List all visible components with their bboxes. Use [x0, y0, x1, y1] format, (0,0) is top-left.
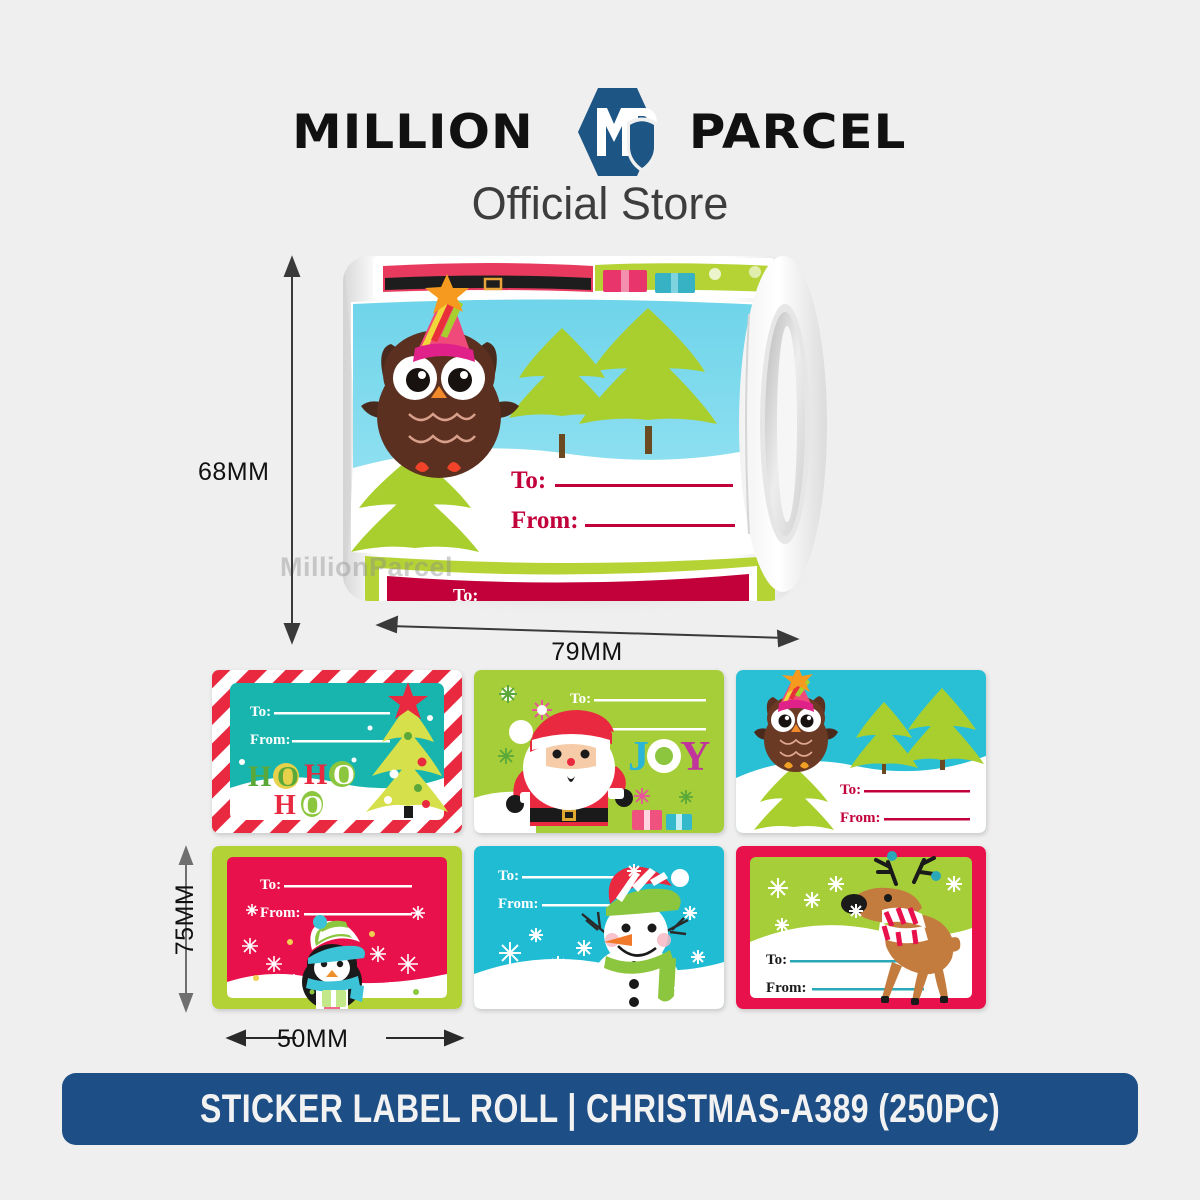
brand-header: MILLION PARCEL [0, 96, 1200, 168]
dimension-label-75mm: 75MM [171, 884, 200, 955]
dimension-label-79mm: 79MM [0, 638, 1200, 667]
svg-text:To:: To: [511, 467, 546, 494]
svg-text:From:: From: [250, 732, 291, 748]
svg-text:J: J [628, 734, 649, 780]
sticker-snowman[interactable]: To: From: [474, 846, 724, 1009]
mp-shield-hexagon-logo [545, 86, 677, 178]
svg-text:To:: To: [570, 691, 591, 707]
official-store-subtitle: Official Store [0, 178, 1200, 230]
product-title-banner: STICKER LABEL ROLL | CHRISTMAS-A389 (250… [62, 1073, 1138, 1145]
svg-text:H: H [304, 758, 327, 791]
svg-text:O: O [333, 760, 355, 791]
svg-text:To:: To: [260, 877, 281, 893]
sticker-design-grid: To: From: [212, 670, 992, 1010]
sticker-santa-joy[interactable]: To: From: [474, 670, 724, 833]
svg-text:To:: To: [766, 952, 787, 968]
sticker-owl-trees[interactable]: To: From: [736, 670, 986, 833]
svg-text:From:: From: [840, 810, 881, 826]
dimension-label-68mm: 68MM [198, 458, 269, 487]
sticker-reindeer[interactable]: To: From: [736, 846, 986, 1009]
roll-body: To: From: To: [343, 256, 795, 601]
svg-text:H: H [248, 760, 271, 793]
product-title-text: STICKER LABEL ROLL | CHRISTMAS-A389 (250… [200, 1087, 1000, 1132]
svg-text:From:: From: [498, 896, 539, 912]
svg-text:Y: Y [680, 734, 710, 780]
svg-text:O: O [302, 790, 323, 820]
svg-text:From:: From: [260, 905, 301, 921]
svg-text:To:: To: [250, 704, 271, 720]
svg-text:H: H [274, 790, 296, 821]
svg-text:To:: To: [453, 585, 478, 601]
brand-name-left: MILLION [293, 105, 535, 160]
svg-text:From:: From: [766, 980, 807, 996]
brand-name-right: PARCEL [689, 105, 907, 160]
svg-text:To:: To: [498, 868, 519, 884]
roll-core [735, 254, 831, 594]
svg-text:From:: From: [511, 507, 579, 534]
christmas-sticker-label-roll-photo: To: From: To: [325, 248, 825, 614]
svg-text:To:: To: [840, 782, 861, 798]
dimension-label-50mm: 50MM [277, 1025, 348, 1054]
dimension-line-68mm [285, 258, 299, 642]
sticker-ho-ho-ho[interactable]: To: From: [212, 670, 462, 833]
sticker-penguin[interactable]: To: From: [212, 846, 462, 1009]
svg-text:O: O [277, 762, 299, 793]
